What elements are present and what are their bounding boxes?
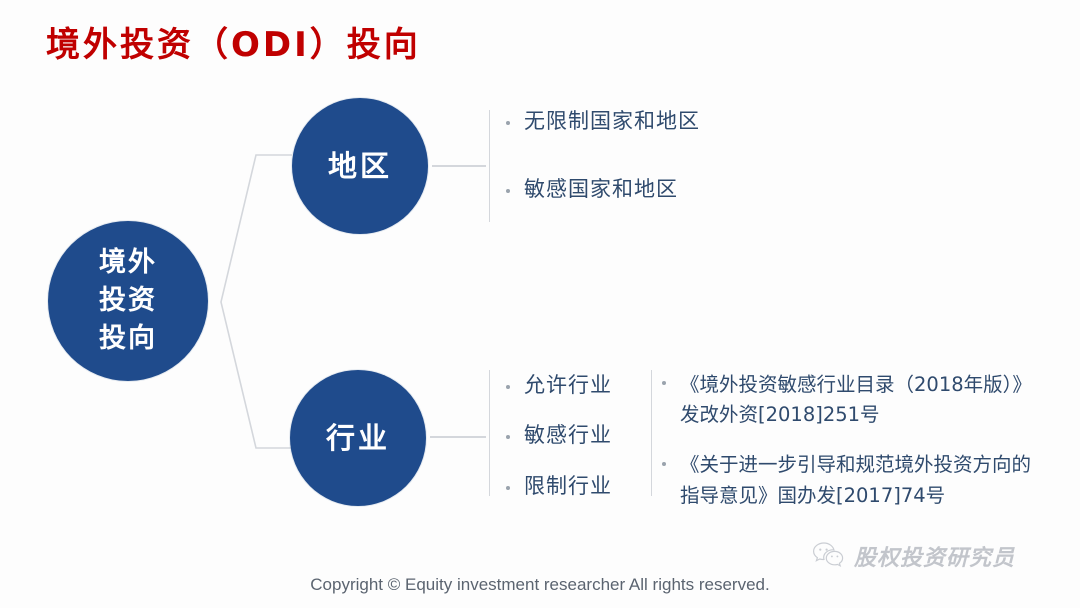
document-number: 发改外资[2018]251号 <box>680 400 1062 430</box>
divider-documents <box>651 370 652 496</box>
list-region: 无限制国家和地区 敏感国家和地区 <box>502 108 700 203</box>
copyright-footer: Copyright © Equity investment researcher… <box>0 575 1080 595</box>
list-item: 敏感行业 <box>502 422 612 448</box>
node-industry-label: 行业 <box>326 421 390 456</box>
node-industry[interactable]: 行业 <box>290 370 426 506</box>
list-item: 限制行业 <box>502 473 612 499</box>
divider-industry <box>489 370 490 496</box>
list-documents: 《境外投资敏感行业目录（2018年版）》 发改外资[2018]251号 《关于进… <box>662 370 1062 511</box>
list-item: 允许行业 <box>502 372 612 398</box>
node-region[interactable]: 地区 <box>292 98 428 234</box>
page-title: 境外投资（ODI）投向 <box>46 25 421 66</box>
list-item: 敏感国家和地区 <box>502 176 700 202</box>
document-title: 《关于进一步引导和规范境外投资方向的 <box>680 453 1031 476</box>
list-industry: 允许行业 敏感行业 限制行业 <box>502 372 612 499</box>
document-number: 指导意见》国办发[2017]74号 <box>680 481 1062 511</box>
list-item: 无限制国家和地区 <box>502 108 700 134</box>
watermark-label: 股权投资研究员 <box>854 540 1015 572</box>
node-root[interactable]: 境外 投资 投向 <box>48 221 208 381</box>
watermark: 股权投资研究员 <box>812 540 1015 572</box>
document-title: 《境外投资敏感行业目录（2018年版）》 <box>680 373 1032 396</box>
slide-canvas: 境外投资（ODI）投向 境外 投资 投向 地区 行业 无限制国家和地区 敏感国家… <box>0 0 1080 608</box>
wechat-icon <box>812 541 846 571</box>
node-region-label: 地区 <box>328 149 392 184</box>
list-item: 《境外投资敏感行业目录（2018年版）》 发改外资[2018]251号 <box>662 370 1062 430</box>
divider-region <box>489 110 490 222</box>
node-root-label: 境外 投资 投向 <box>99 244 157 359</box>
list-item: 《关于进一步引导和规范境外投资方向的 指导意见》国办发[2017]74号 <box>662 450 1062 510</box>
